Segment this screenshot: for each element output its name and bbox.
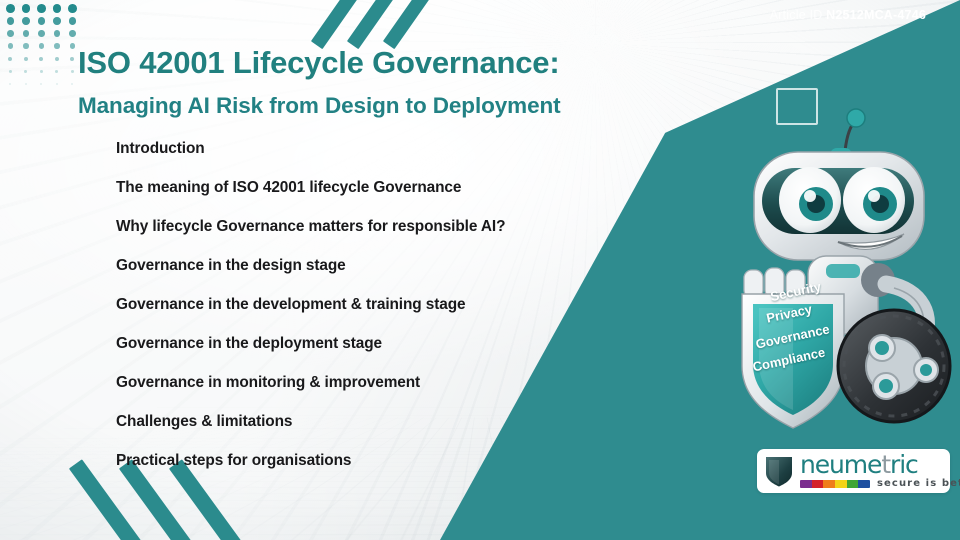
slide-title: ISO 42001 Lifecycle Governance: [78,45,559,81]
dot-grid-dot [69,17,77,25]
dot-grid-dot [55,70,58,73]
dot-grid-dot [8,43,13,48]
rainbow-segment [847,480,859,488]
toc-item[interactable]: Governance in the design stage [116,258,716,273]
dot-grid-dot [7,30,14,37]
article-id-value: N2512MCA-4746 [826,8,926,22]
dot-grid-dot [39,57,43,61]
dot-grid-dot [56,83,58,85]
dot-grid-dot [71,83,73,85]
dot-grid-dot [70,43,75,48]
rainbow-segment [858,480,870,488]
shield-logo-icon [764,454,794,488]
toc-item[interactable]: Introduction [116,141,716,156]
dot-grid-dot [54,43,59,48]
neumetric-logo: neumetric secure is better [757,449,950,493]
toc-item[interactable]: Governance in monitoring & improvement [116,375,716,390]
toc-item[interactable]: The meaning of ISO 42001 lifecycle Gover… [116,180,716,195]
dot-grid-dot [9,83,11,85]
dot-grid-dot [37,4,46,13]
dot-grid-dot [24,70,27,73]
dot-grid-dot [71,70,74,73]
dot-grid-dot [53,17,61,25]
dot-grid-dot [8,57,12,61]
dot-grid-dot [38,17,46,25]
dot-grid-dot [40,83,42,85]
dot-grid-dot [23,30,30,37]
article-id-label: Article ID [770,8,823,22]
dot-grid-dot [54,30,61,37]
diagonal-stripes-top-icon [326,0,456,46]
dot-grid-dot [9,70,12,73]
logo-word-last: ric [890,450,918,479]
toc-item[interactable]: Practical steps for organisations [116,453,716,468]
dot-grid-dot [39,43,44,48]
dot-grid-icon [6,4,80,80]
dot-grid-dot [55,57,59,61]
dot-grid-dot [22,17,30,25]
rainbow-segment [800,480,812,488]
robot-mascot-icon [726,104,960,434]
dot-grid-dot [24,57,28,61]
article-id: Article ID N2512MCA-4746 [770,8,926,22]
rainbow-segment [812,480,824,488]
dot-grid-dot [7,17,15,25]
dot-grid-dot [70,57,74,61]
logo-word-first: neume [800,450,881,479]
toc-item[interactable]: Governance in the development & training… [116,297,716,312]
logo-word-accent: t [881,450,890,479]
rainbow-bar-icon [800,480,870,488]
dot-grid-dot [38,30,45,37]
toc-item[interactable]: Why lifecycle Governance matters for res… [116,219,716,234]
slide-canvas: Article ID N2512MCA-4746 ISO 42001 Lifec… [0,0,960,540]
dot-grid-dot [6,4,15,13]
rainbow-segment [823,480,835,488]
dot-grid-dot [23,43,28,48]
toc-item[interactable]: Challenges & limitations [116,414,716,429]
table-of-contents: IntroductionThe meaning of ISO 42001 lif… [116,141,716,492]
dot-grid-dot [40,70,43,73]
dot-grid-dot [68,4,77,13]
logo-tagline: secure is better [877,478,960,489]
dot-grid-dot [53,4,62,13]
toc-item[interactable]: Governance in the deployment stage [116,336,716,351]
slide-subtitle: Managing AI Risk from Design to Deployme… [78,93,561,119]
dot-grid-dot [69,30,76,37]
logo-wordmark: neumetric [800,453,960,476]
dot-grid-dot [22,4,31,13]
rainbow-segment [835,480,847,488]
dot-grid-dot [25,83,27,85]
